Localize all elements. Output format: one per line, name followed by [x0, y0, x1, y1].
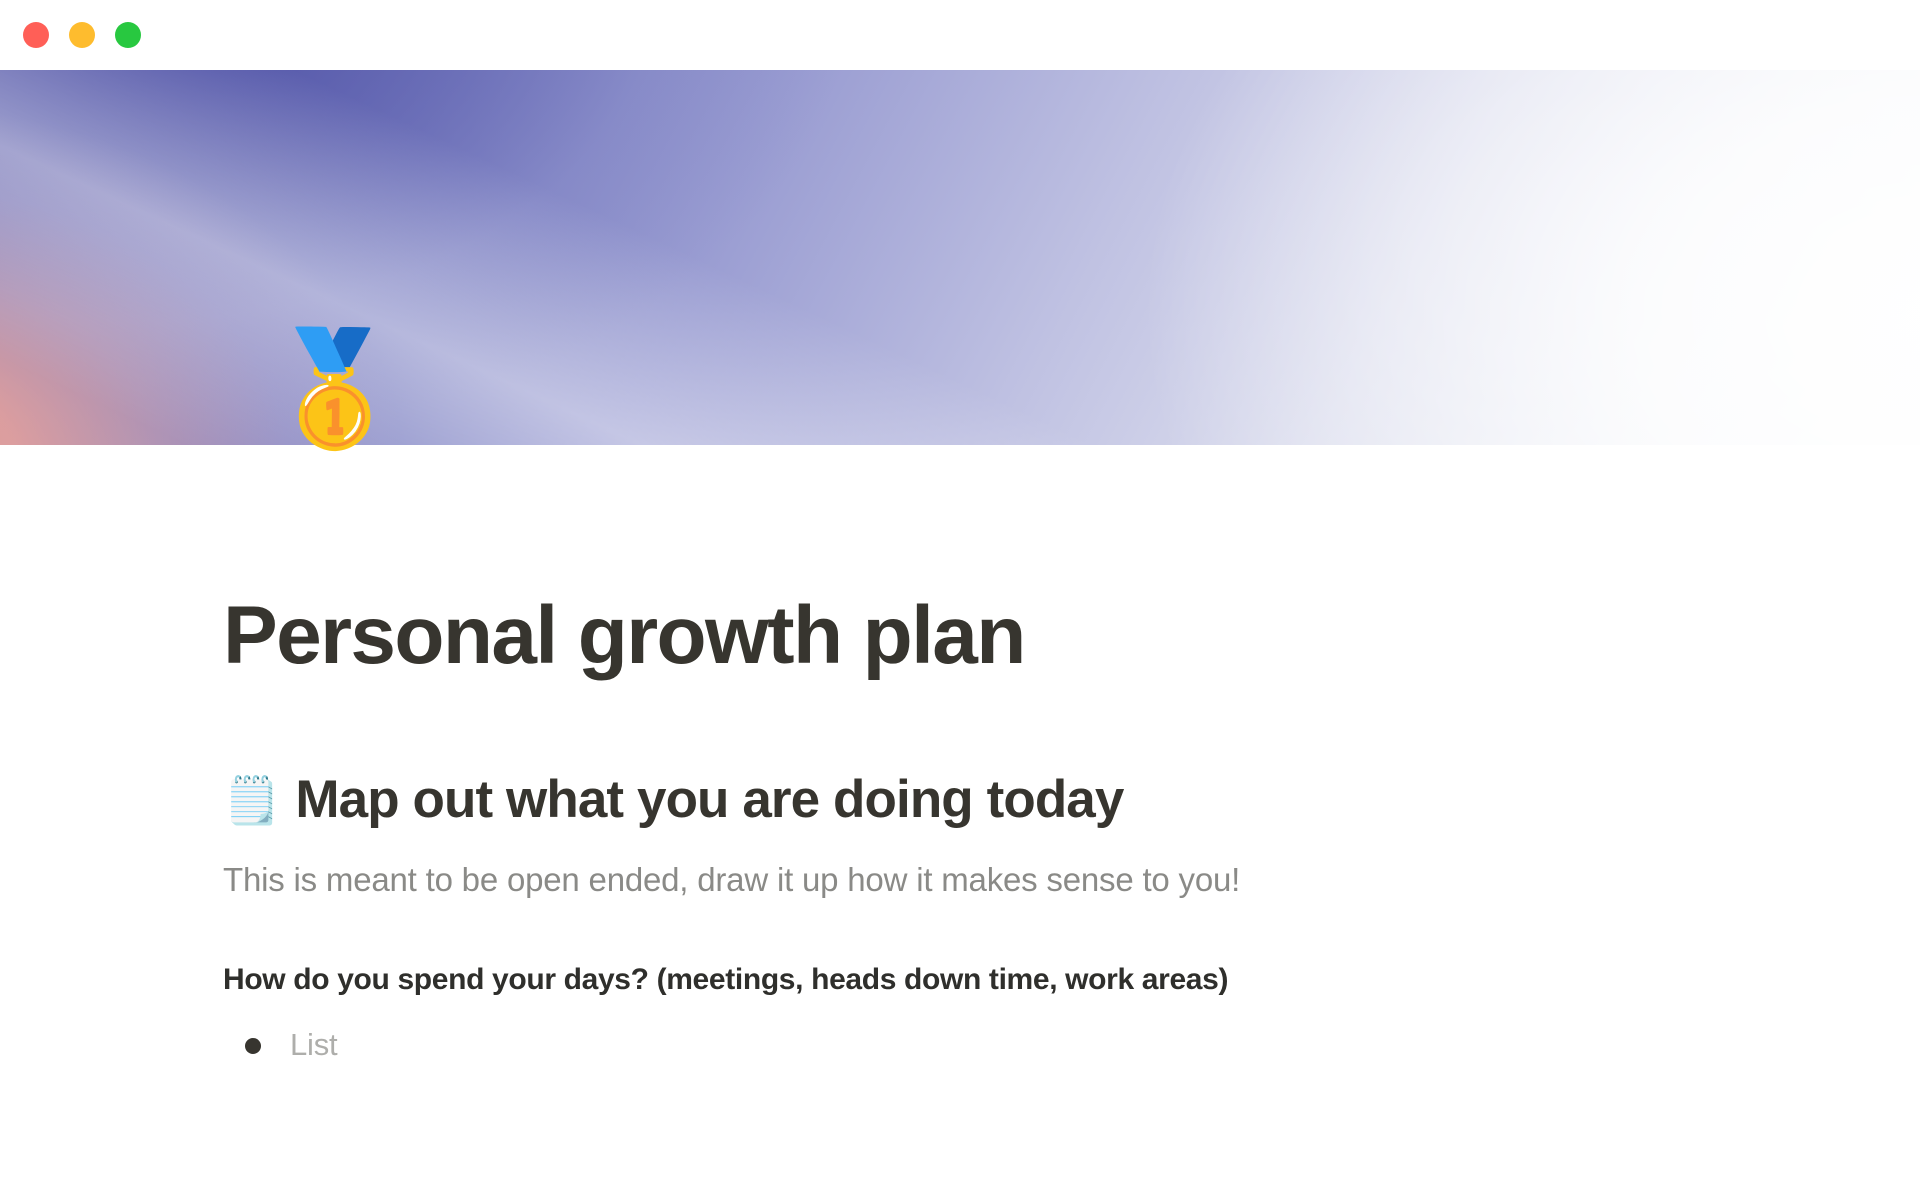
traffic-light-group: [23, 22, 141, 48]
maximize-window-button[interactable]: [115, 22, 141, 48]
app-window: 🥇 Personal growth plan 🗒️ Map out what y…: [0, 0, 1920, 1200]
spiral-notepad-icon: 🗒️: [223, 777, 279, 823]
list-item[interactable]: List: [245, 1023, 1800, 1068]
list-item-text: List: [290, 1023, 337, 1068]
window-titlebar: [0, 0, 1920, 70]
section-heading[interactable]: 🗒️ Map out what you are doing today: [223, 770, 1800, 829]
content-column: Personal growth plan 🗒️ Map out what you…: [0, 593, 1920, 1068]
gold-medal-icon[interactable]: 🥇: [265, 333, 375, 443]
close-window-button[interactable]: [23, 22, 49, 48]
section-subtitle[interactable]: This is meant to be open ended, draw it …: [223, 857, 1800, 903]
bullet-point-icon: [245, 1038, 261, 1054]
minimize-window-button[interactable]: [69, 22, 95, 48]
document-body: Personal growth plan 🗒️ Map out what you…: [0, 445, 1920, 1200]
question-prompt[interactable]: How do you spend your days? (meetings, h…: [223, 959, 1800, 1001]
section-heading-text: Map out what you are doing today: [295, 770, 1123, 829]
page-title[interactable]: Personal growth plan: [223, 593, 1800, 680]
bulleted-list: List: [223, 1023, 1800, 1068]
